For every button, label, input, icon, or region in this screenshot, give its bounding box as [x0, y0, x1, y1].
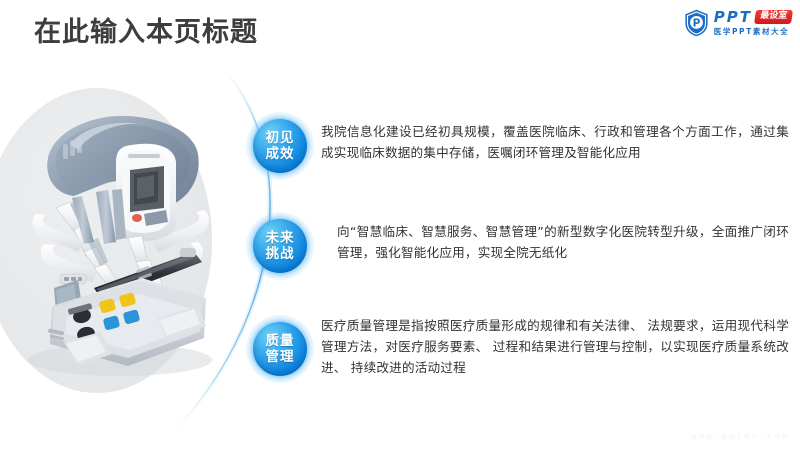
surgical-robot-console-image: [8, 92, 233, 392]
badge-label-line1: 质量: [266, 333, 295, 349]
logo-badge-text: 最设室: [754, 10, 793, 24]
logo-brand-text: PPT: [714, 10, 752, 25]
page-title-bar: 在此输入本页标题: [34, 18, 258, 48]
badge-label-line1: 初见: [266, 130, 295, 146]
content-row-2: 未来 挑战 向“智慧临床、智慧服务、智慧管理”的新型数字化医院转型升级，全面推广…: [246, 212, 789, 280]
badge-label-line2: 成效: [266, 146, 295, 162]
page-title: 在此输入本页标题: [34, 18, 258, 48]
badge-chujian-chengxiao[interactable]: 初见 成效: [246, 112, 314, 180]
badge-label-line2: 挑战: [266, 246, 295, 262]
badge-weilai-tiaozhan[interactable]: 未来 挑战: [246, 212, 314, 280]
badge-circle: 初见 成效: [253, 119, 307, 173]
logo-text: PPT 最设室 医学PPT素材大全: [714, 9, 792, 37]
logo-subtitle: 医学PPT素材大全: [714, 26, 792, 37]
badge-circle: 质量 管理: [253, 322, 307, 376]
badge-circle: 未来 挑战: [253, 219, 307, 273]
brand-logo: P PPT 最设室 医学PPT素材大全: [684, 8, 792, 38]
shield-icon: P: [684, 9, 709, 37]
content-row-3: 质量 管理 医疗质量管理是指按照医疗质量形成的规律和有关法律、 法规要求，运用现…: [246, 315, 789, 383]
badge-label-line1: 未来: [266, 230, 295, 246]
paragraph-2: 向“智慧临床、智慧服务、智慧管理”的新型数字化医院转型升级，全面推广闭环管理，强…: [337, 221, 789, 263]
site-watermark: www.ppter.com: [691, 432, 790, 442]
illustration-zone: [0, 82, 250, 412]
paragraph-1: 我院信息化建设已经初具规模，覆盖医院临床、行政和管理各个方面工作，通过集成实现临…: [321, 121, 789, 163]
content-row-1: 初见 成效 我院信息化建设已经初具规模，覆盖医院临床、行政和管理各个方面工作，通…: [246, 112, 789, 180]
logo-primary-row: PPT 最设室: [714, 10, 792, 25]
badge-zhiliang-guanli[interactable]: 质量 管理: [246, 315, 314, 383]
badge-label-line2: 管理: [266, 349, 295, 365]
paragraph-3: 医疗质量管理是指按照医疗质量形成的规律和有关法律、 法规要求，运用现代科学管理方…: [321, 315, 789, 378]
svg-text:P: P: [692, 18, 700, 30]
slide-canvas: 在此输入本页标题 P PPT 最设室 医学PPT素材大全: [0, 0, 800, 450]
